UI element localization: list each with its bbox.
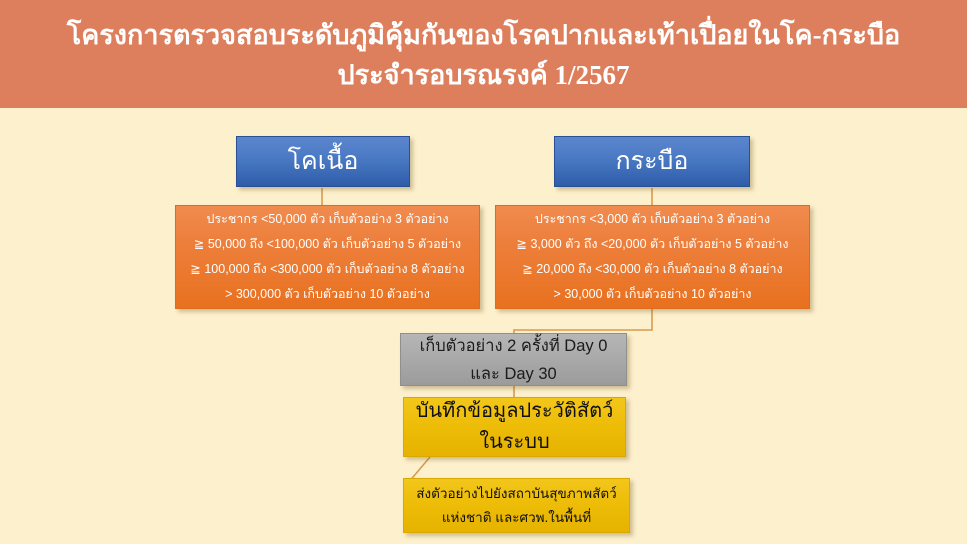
page-title-line-1: โครงการตรวจสอบระดับภูมิคุ้มกันของโรคปากแ… (67, 15, 901, 55)
node-buffalo-head[interactable]: กระบือ (554, 136, 750, 187)
node-beef-cattle-head-label: โคเนื้อ (237, 147, 409, 177)
criteria-line: ≧ 50,000 ถึง <100,000 ตัว เก็บตัวอย่าง 5… (182, 232, 473, 257)
connector-buffalo-criteria-to-schedule (514, 309, 652, 333)
criteria-line: ≧ 20,000 ถึง <30,000 ตัว เก็บตัวอย่าง 8 … (502, 257, 803, 282)
node-send-samples[interactable]: ส่งตัวอย่างไปยังสถาบันสุขภาพสัตว์แห่งชาต… (403, 478, 630, 533)
node-record-animal-history-label: บันทึกข้อมูลประวัติสัตว์ในระบบ (404, 396, 625, 458)
node-buffalo-criteria-text: ประชากร <3,000 ตัว เก็บตัวอย่าง 3 ตัวอย่… (496, 207, 809, 307)
criteria-line: ≧ 100,000 ถึง <300,000 ตัว เก็บตัวอย่าง … (182, 257, 473, 282)
node-sampling-schedule[interactable]: เก็บตัวอย่าง 2 ครั้งที่ Day 0 และ Day 30 (400, 333, 627, 386)
node-record-animal-history[interactable]: บันทึกข้อมูลประวัติสัตว์ในระบบ (403, 397, 626, 457)
criteria-line: ประชากร <3,000 ตัว เก็บตัวอย่าง 3 ตัวอย่… (502, 207, 803, 232)
node-beef-cattle-head[interactable]: โคเนื้อ (236, 136, 410, 187)
criteria-line: > 30,000 ตัว เก็บตัวอย่าง 10 ตัวอย่าง (502, 282, 803, 307)
page-title-line-2: ประจำรอบรณรงค์ 1/2567 (337, 55, 629, 95)
node-beef-cattle-criteria-text: ประชากร <50,000 ตัว เก็บตัวอย่าง 3 ตัวอย… (176, 207, 479, 307)
node-buffalo-head-label: กระบือ (555, 147, 749, 177)
node-beef-cattle-criteria[interactable]: ประชากร <50,000 ตัว เก็บตัวอย่าง 3 ตัวอย… (175, 205, 480, 309)
criteria-line: ≧ 3,000 ตัว ถึง <20,000 ตัว เก็บตัวอย่าง… (502, 232, 803, 257)
criteria-line: > 300,000 ตัว เก็บตัวอย่าง 10 ตัวอย่าง (182, 282, 473, 307)
node-sampling-schedule-label: เก็บตัวอย่าง 2 ครั้งที่ Day 0 และ Day 30 (401, 332, 626, 388)
node-send-samples-label: ส่งตัวอย่างไปยังสถาบันสุขภาพสัตว์แห่งชาต… (404, 482, 629, 530)
header-banner: โครงการตรวจสอบระดับภูมิคุ้มกันของโรคปากแ… (0, 0, 967, 108)
criteria-line: ประชากร <50,000 ตัว เก็บตัวอย่าง 3 ตัวอย… (182, 207, 473, 232)
node-buffalo-criteria[interactable]: ประชากร <3,000 ตัว เก็บตัวอย่าง 3 ตัวอย่… (495, 205, 810, 309)
slide-canvas: โครงการตรวจสอบระดับภูมิคุ้มกันของโรคปากแ… (0, 0, 967, 544)
